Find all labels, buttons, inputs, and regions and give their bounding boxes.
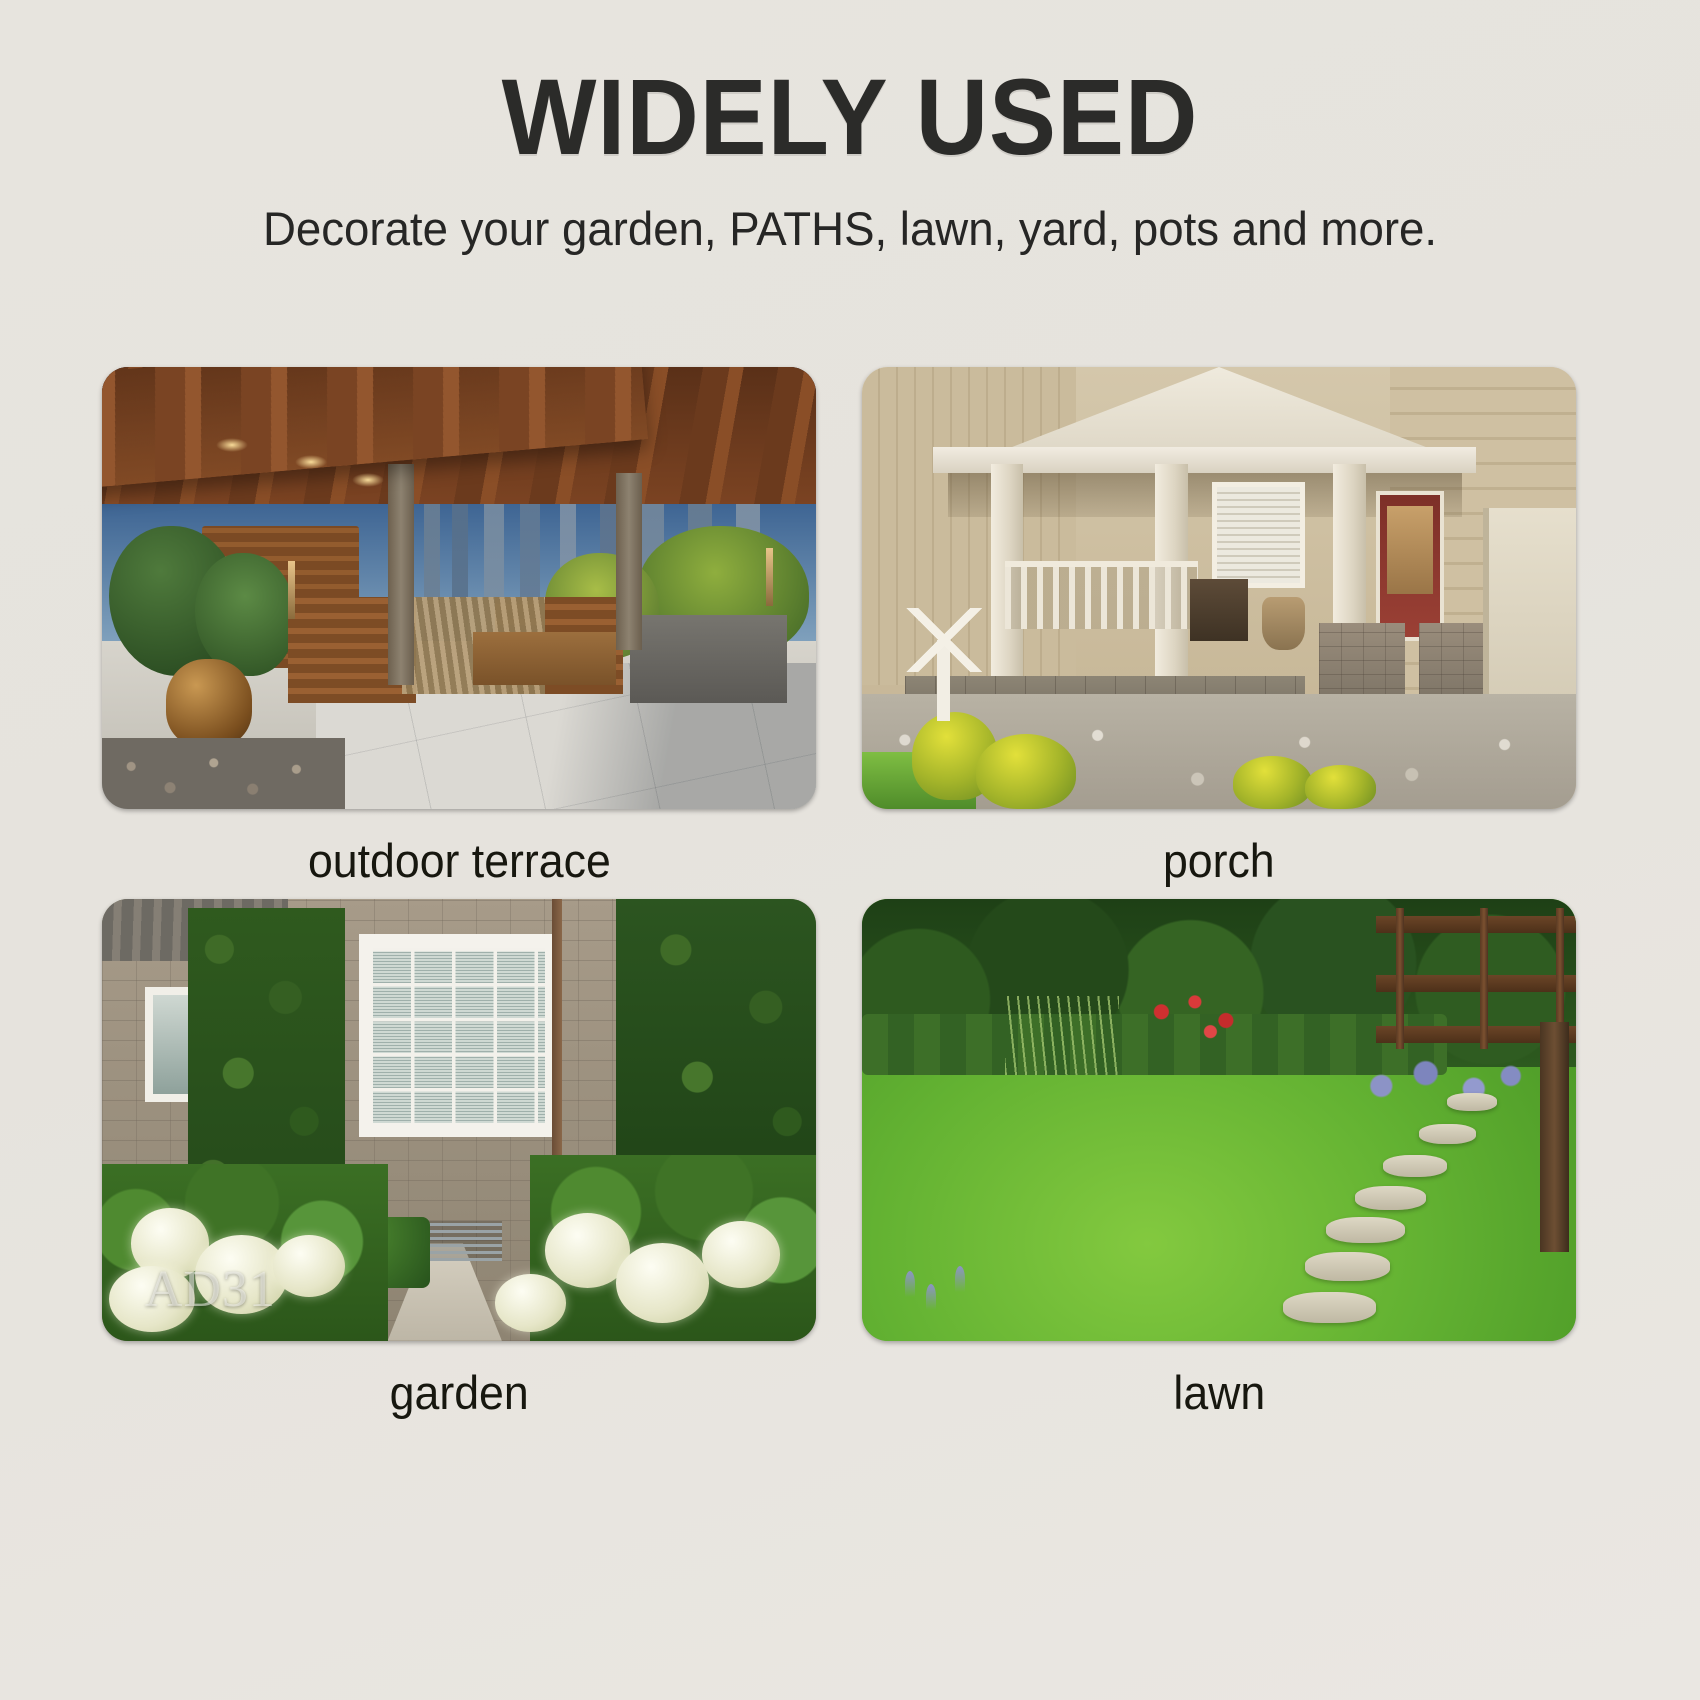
- ornamental-grass: [1005, 996, 1119, 1076]
- hydrangea-bloom: [273, 1235, 344, 1297]
- yellow-shrub: [976, 734, 1076, 809]
- gravel-bed: [102, 738, 345, 809]
- pergola-light-glow: [352, 473, 384, 487]
- stone-column-base: [1319, 623, 1405, 703]
- metal-planter-box: [630, 615, 787, 703]
- garage-door: [1483, 508, 1576, 720]
- downpipe: [552, 899, 562, 1173]
- gallery-caption: porch: [1163, 835, 1275, 887]
- lawn-photo: [862, 899, 1576, 1341]
- porch-chair: [1190, 579, 1247, 641]
- header: WIDELY USED Decorate your garden, PATHS,…: [0, 60, 1700, 258]
- decorative-windmill: [898, 606, 991, 721]
- gallery-caption: outdoor terrace: [308, 835, 611, 887]
- outdoor-terrace-photo: [102, 367, 816, 809]
- window-muntins: [373, 948, 545, 1123]
- lavender-sprig: [905, 1271, 915, 1297]
- hydrangea-bloom: [616, 1243, 709, 1323]
- hydrangea-bloom: [702, 1221, 781, 1287]
- patio-table: [473, 632, 616, 685]
- pergola-light-glow: [216, 438, 248, 452]
- porch-window: [1212, 482, 1305, 588]
- copper-pot: [166, 659, 252, 747]
- lavender-border: [1348, 1049, 1534, 1120]
- tree-trunk: [1540, 1022, 1569, 1252]
- page-title: WIDELY USED: [60, 60, 1641, 173]
- yellow-shrub: [1305, 765, 1376, 809]
- lavender-sprig: [926, 1284, 936, 1310]
- planter-pot: [1262, 597, 1305, 650]
- pergola-post: [388, 464, 414, 685]
- door-glass: [1387, 506, 1432, 594]
- garden-light: [288, 561, 295, 618]
- page-subtitle: Decorate your garden, PATHS, lawn, yard,…: [26, 201, 1675, 257]
- hydrangea-bloom: [109, 1266, 195, 1332]
- stepping-stone: [1419, 1124, 1476, 1144]
- gallery-item-lawn[interactable]: lawn: [862, 899, 1576, 1419]
- fence-post: [1480, 908, 1488, 1049]
- stepping-stone: [1383, 1155, 1447, 1177]
- stepping-stone: [1326, 1217, 1405, 1244]
- gallery-grid: outdoor terrace: [102, 367, 1576, 1418]
- gallery-item-garden[interactable]: AD31 garden: [102, 899, 816, 1419]
- red-flowers: [1133, 987, 1262, 1049]
- gallery-item-porch[interactable]: porch: [862, 367, 1576, 887]
- gallery-item-outdoor-terrace[interactable]: outdoor terrace: [102, 367, 816, 887]
- pergola-post: [616, 473, 642, 650]
- stone-column-base: [1419, 623, 1490, 703]
- stepping-stone: [1305, 1252, 1391, 1281]
- fence-post: [1396, 908, 1404, 1049]
- garden-light: [766, 548, 773, 605]
- stepping-stone: [1283, 1292, 1376, 1323]
- porch-railing: [1005, 561, 1198, 629]
- lavender-sprig: [955, 1266, 965, 1292]
- front-door: [1376, 491, 1444, 641]
- stepping-stone: [1355, 1186, 1426, 1210]
- fence-rail: [1376, 975, 1576, 992]
- gallery-caption: garden: [389, 1367, 528, 1419]
- garden-photo: AD31: [102, 899, 816, 1341]
- yellow-shrub: [1233, 756, 1312, 809]
- gallery-caption: lawn: [1173, 1367, 1265, 1419]
- promo-page: WIDELY USED Decorate your garden, PATHS,…: [0, 0, 1700, 1700]
- fence-rail: [1376, 916, 1576, 933]
- main-window: [359, 934, 559, 1137]
- stepping-stone: [1447, 1093, 1497, 1111]
- porch-photo: [862, 367, 1576, 809]
- hydrangea-bloom: [495, 1274, 566, 1331]
